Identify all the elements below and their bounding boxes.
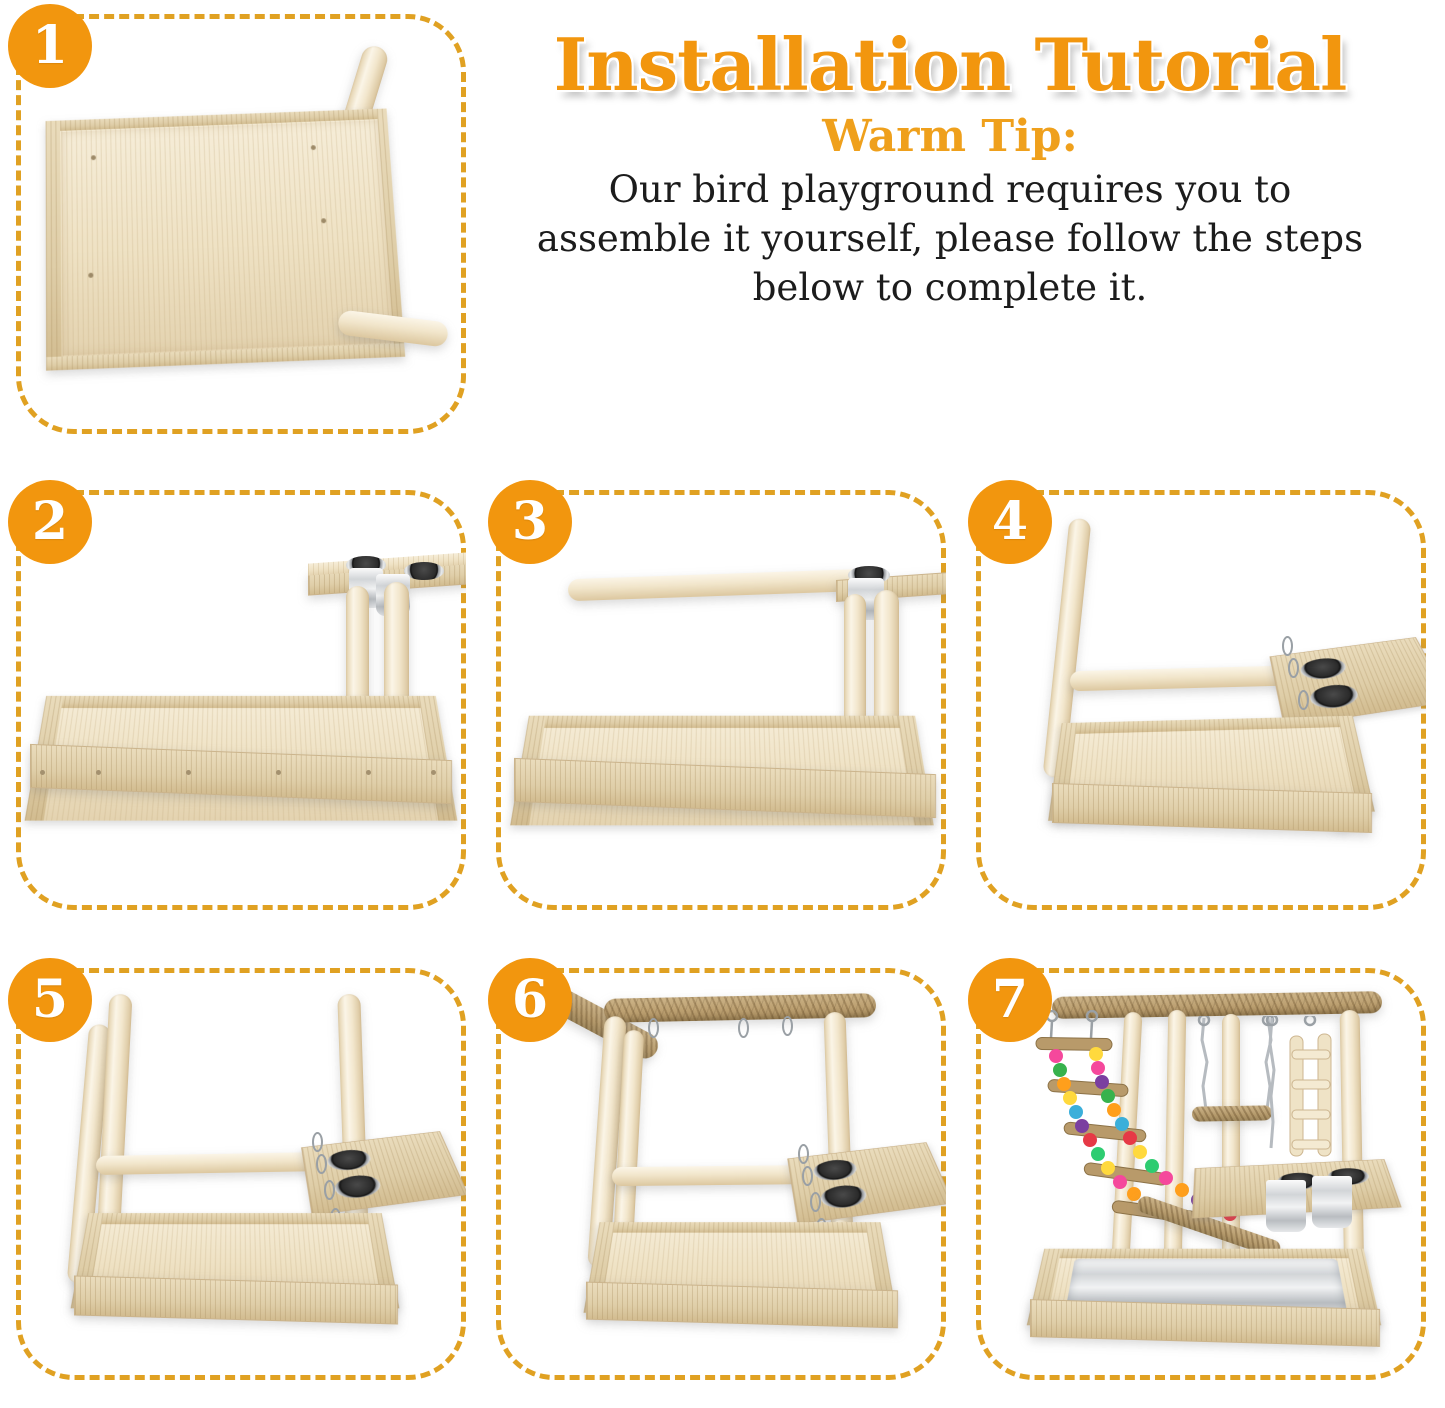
step-panel-6: 6 <box>496 968 946 1380</box>
step-badge-6: 6 <box>488 958 572 1042</box>
hanging-hook <box>782 1016 793 1036</box>
step-badge-7: 7 <box>968 958 1052 1042</box>
hanging-hook <box>648 1018 659 1038</box>
screw-eye-hook <box>798 1144 809 1164</box>
step-illustration-6 <box>496 968 946 1380</box>
step-panel-7: 7 <box>976 968 1426 1380</box>
stainless-cup-body <box>1312 1176 1352 1228</box>
tray-front-rail <box>586 1282 898 1329</box>
step-panel-1: 1 <box>16 14 466 434</box>
step-illustration-3 <box>496 490 946 910</box>
screw-eye-hook <box>810 1192 821 1212</box>
step-illustration-1 <box>16 14 466 434</box>
screw-eye-hook <box>324 1180 335 1200</box>
feeding-platform <box>1269 637 1426 727</box>
screw-eye-hook <box>802 1166 813 1186</box>
feeding-platform <box>301 1131 466 1216</box>
step-illustration-7 <box>976 968 1426 1380</box>
step-badge-3: 3 <box>488 480 572 564</box>
warm-tip-body: Our bird playground requires you to asse… <box>535 166 1365 312</box>
warm-tip-label: Warm Tip: <box>470 111 1430 162</box>
tall-vertical-post <box>1340 1010 1365 1286</box>
step-illustration-5 <box>16 968 466 1380</box>
screw-eye-hook <box>316 1154 327 1174</box>
step-panel-3: 3 <box>496 490 946 910</box>
step-illustration-2 <box>16 490 466 910</box>
stainless-cup-body <box>1266 1180 1306 1232</box>
step-panel-4: 4 <box>976 490 1426 910</box>
step-illustration-4 <box>976 490 1426 910</box>
tutorial-header: Installation Tutorial Warm Tip: Our bird… <box>470 28 1430 313</box>
stainless-cup <box>404 562 444 580</box>
screw-eye-hook <box>1288 658 1299 678</box>
page-title: Installation Tutorial <box>470 28 1430 101</box>
screw-eye-hook <box>1282 636 1293 656</box>
horizontal-perch-bar <box>568 569 869 601</box>
tray-front-rail <box>74 1275 398 1324</box>
step-badge-2: 2 <box>8 480 92 564</box>
step-panel-5: 5 <box>16 968 466 1380</box>
hanging-hook <box>738 1018 749 1038</box>
step-badge-1: 1 <box>8 4 92 88</box>
cross-perch <box>96 1152 326 1175</box>
screw-eye-hook <box>1298 690 1309 710</box>
colorful-beaded-ladder <box>1030 1010 1290 1260</box>
screw-eye-hook <box>312 1132 323 1152</box>
step-badge-5: 5 <box>8 958 92 1042</box>
step-panel-2: 2 <box>16 490 466 910</box>
step-badge-4: 4 <box>968 480 1052 564</box>
